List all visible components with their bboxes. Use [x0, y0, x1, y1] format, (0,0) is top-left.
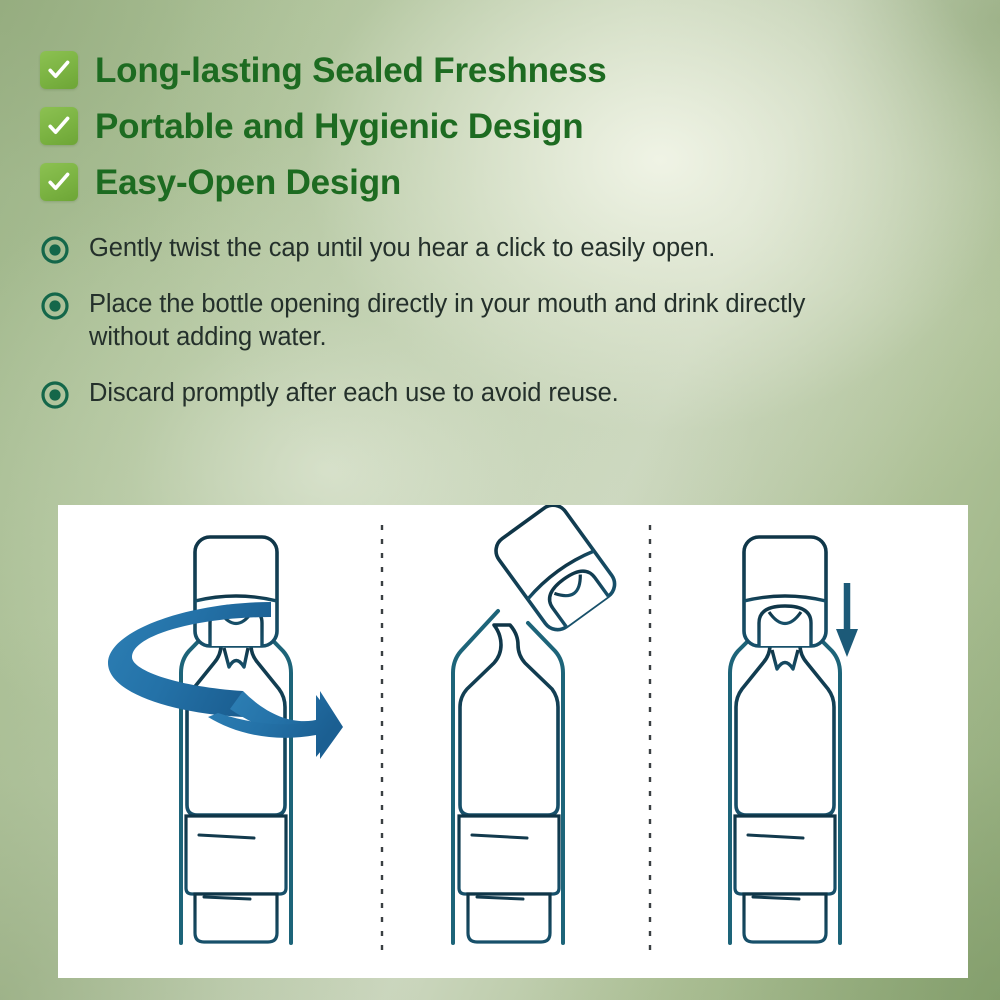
instruction-text: Place the bottle opening directly in you… — [89, 288, 815, 355]
illustration-twist-cap — [108, 537, 343, 943]
bottle-base-segment — [744, 894, 826, 942]
bottle-label-band — [186, 816, 286, 894]
bottle-label-band — [459, 816, 559, 894]
check-square-icon — [40, 107, 78, 145]
instruction-text: Discard promptly after each use to avoid… — [89, 377, 619, 411]
open-bottle-body — [460, 625, 558, 815]
feature-item: Long-lasting Sealed Freshness — [40, 42, 800, 98]
bottle-cap — [744, 537, 826, 646]
check-square-icon — [40, 51, 78, 89]
down-arrow-icon — [836, 583, 858, 657]
check-square-icon — [40, 163, 78, 201]
feature-list: Long-lasting Sealed Freshness Portable a… — [40, 42, 800, 210]
bottle-base-line — [477, 897, 523, 899]
illustration-close-cap — [730, 537, 858, 943]
feature-label: Portable and Hygienic Design — [95, 109, 583, 144]
instruction-item: Gently twist the cap until you hear a cl… — [40, 232, 830, 266]
instruction-list: Gently twist the cap until you hear a cl… — [40, 232, 830, 433]
bottle-base-segment — [468, 894, 550, 942]
radio-bullet-icon — [40, 235, 70, 265]
infographic-page: Long-lasting Sealed Freshness Portable a… — [0, 0, 1000, 1000]
feature-item: Portable and Hygienic Design — [40, 98, 800, 154]
instruction-text: Gently twist the cap until you hear a cl… — [89, 232, 715, 266]
tilted-cap-icon — [490, 505, 620, 636]
bottle-base-segment — [195, 894, 277, 942]
radio-bullet-icon — [40, 380, 70, 410]
feature-label: Easy-Open Design — [95, 165, 401, 200]
radio-bullet-icon — [40, 291, 70, 321]
bottle-cap — [195, 537, 277, 646]
usage-illustration-svg — [58, 505, 968, 978]
bottle-base-line — [753, 897, 799, 899]
instruction-item: Discard promptly after each use to avoid… — [40, 377, 830, 411]
bottle-base-line — [204, 897, 250, 899]
feature-label: Long-lasting Sealed Freshness — [95, 53, 607, 88]
bottle-label-band — [735, 816, 835, 894]
instruction-item: Place the bottle opening directly in you… — [40, 288, 830, 355]
illustration-remove-cap — [453, 505, 620, 943]
usage-illustration-panel — [58, 505, 968, 978]
bottle-body — [736, 619, 834, 815]
feature-item: Easy-Open Design — [40, 154, 800, 210]
